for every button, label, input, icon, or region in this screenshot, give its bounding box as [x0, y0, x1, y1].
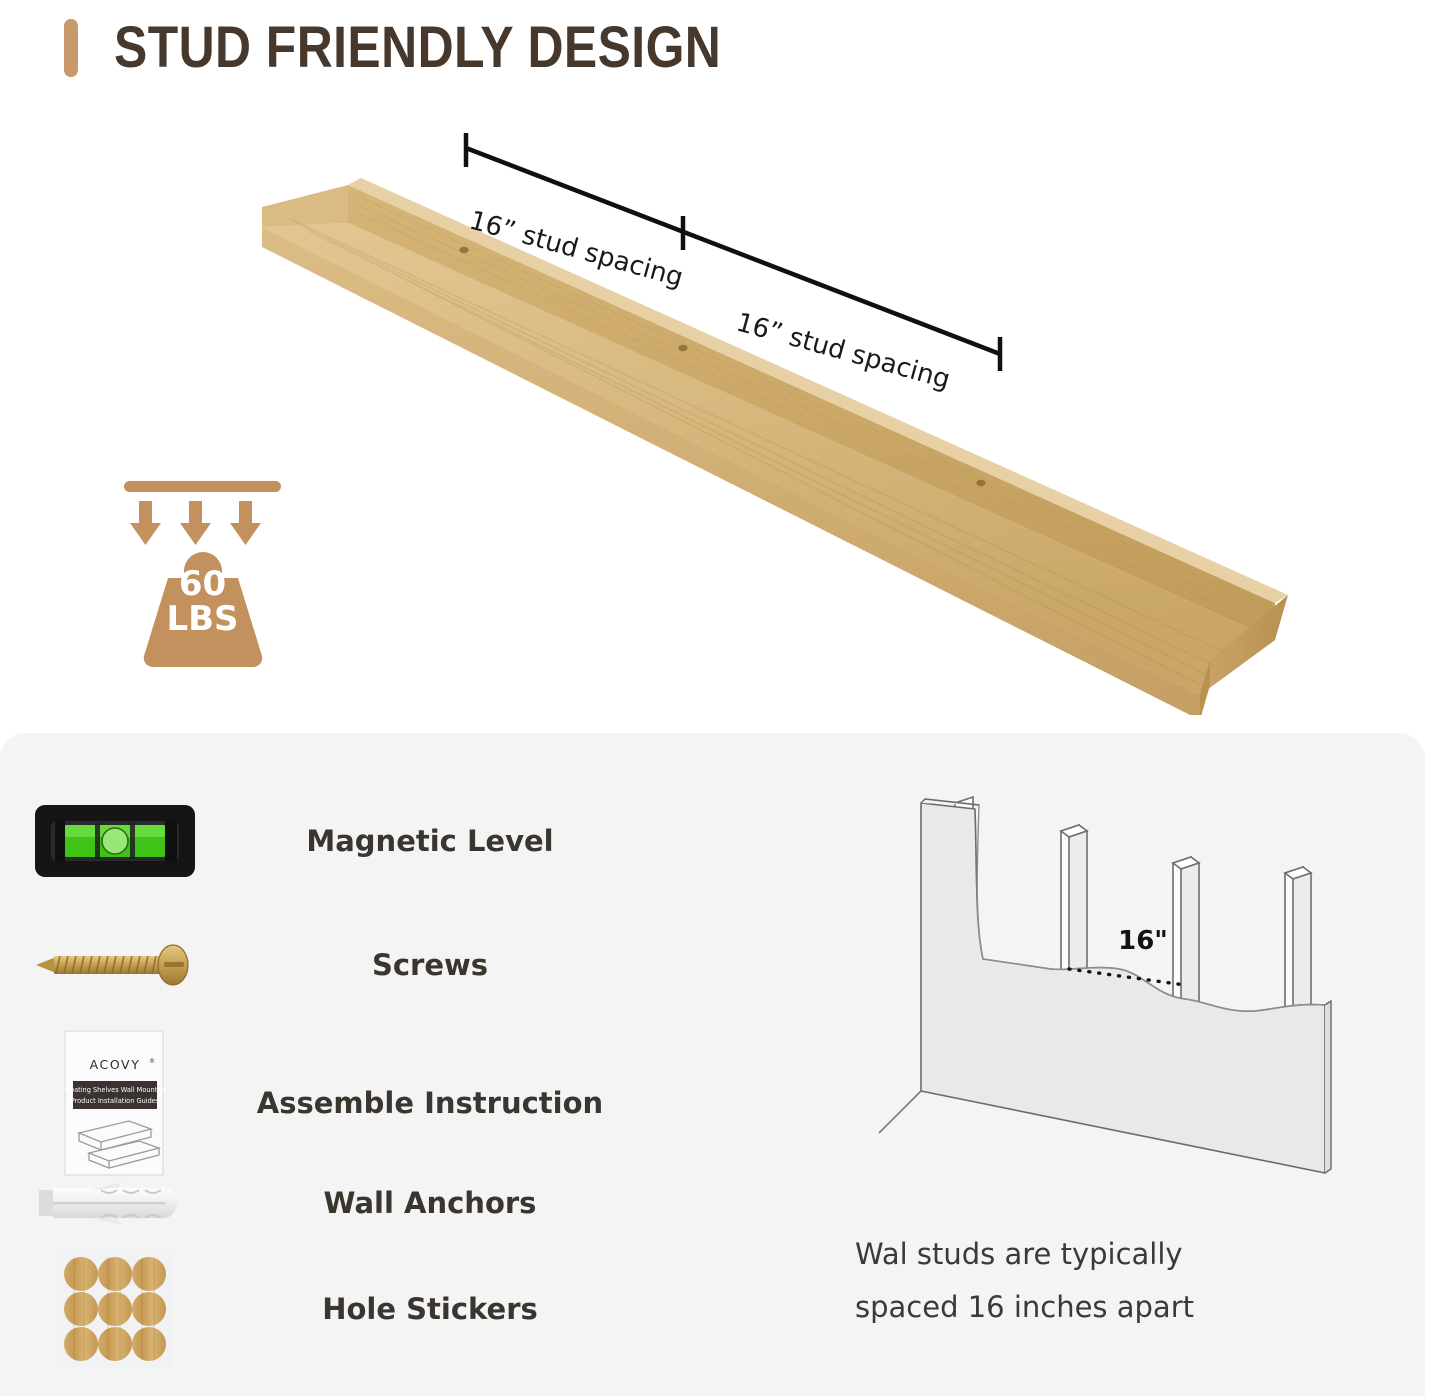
- weight-capacity-badge: 60 LBS: [110, 475, 295, 680]
- booklet-line2: Product Installation Guides: [71, 1097, 160, 1105]
- weight-value-text: 60 LBS: [110, 567, 295, 637]
- measure-label: 16": [1118, 926, 1168, 956]
- accessories-list: Magnetic Level: [0, 733, 760, 1396]
- list-item: Screws: [0, 915, 760, 1015]
- accessory-label: Screws: [230, 948, 630, 982]
- booklet-brand: ACOVY: [90, 1057, 141, 1072]
- screw-icon: [0, 937, 230, 993]
- page-title: STUD FRIENDLY DESIGN: [114, 14, 721, 81]
- wall-anchor-icon: [0, 1174, 230, 1232]
- caption-line-2: spaced 16 inches apart: [855, 1281, 1355, 1334]
- stud-diagram-caption: Wal studs are typically spaced 16 inches…: [855, 1228, 1355, 1334]
- accessory-label: Magnetic Level: [230, 824, 630, 858]
- list-item: Hole Stickers: [0, 1241, 760, 1376]
- caption-line-1: Wal studs are typically: [855, 1228, 1355, 1281]
- magnetic-level-icon: [0, 799, 230, 883]
- weight-unit: LBS: [110, 602, 295, 637]
- list-item: Wall Anchors: [0, 1153, 760, 1253]
- booklet-line1: Floating Shelves Wall Mounted: [64, 1086, 165, 1094]
- stud-wall-diagram: 16": [855, 773, 1335, 1193]
- title-accent-bar: [64, 19, 78, 77]
- page-header: STUD FRIENDLY DESIGN: [0, 0, 1445, 95]
- accessory-label: Hole Stickers: [230, 1292, 630, 1326]
- hole-stickers-icon: [0, 1248, 230, 1370]
- accessory-label: Assemble Instruction: [230, 1086, 630, 1120]
- accessory-label: Wall Anchors: [230, 1186, 630, 1220]
- weight-number: 60: [110, 567, 295, 602]
- accessories-panel: Magnetic Level: [0, 733, 1425, 1396]
- list-item: Magnetic Level: [0, 791, 760, 891]
- svg-text:®: ®: [149, 1058, 155, 1065]
